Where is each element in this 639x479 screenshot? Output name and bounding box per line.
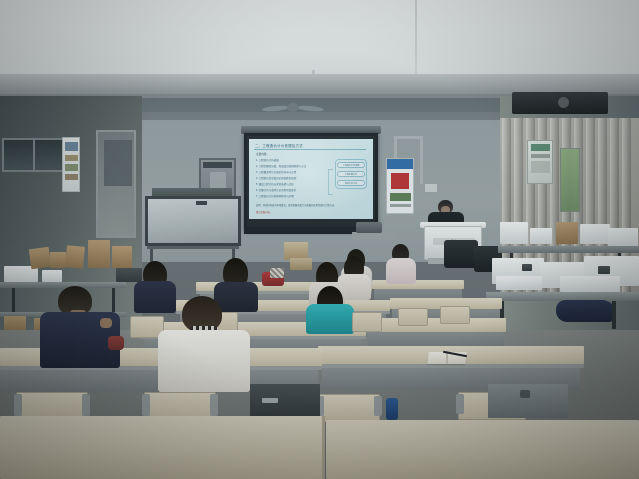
desk-foreground-right (326, 420, 639, 479)
cardboard-box (29, 247, 52, 270)
cabinet-label (262, 398, 278, 403)
fan-blade (297, 105, 324, 112)
left-bench (0, 282, 126, 288)
poster-left-wall (62, 137, 80, 192)
ceiling-seam (415, 0, 417, 78)
chair-arm (142, 394, 150, 416)
chair-arm (456, 394, 464, 414)
scale-model (500, 222, 528, 244)
poster-back-wall-right (386, 158, 414, 214)
left-wall-door[interactable] (96, 130, 136, 238)
sign-right-wall (527, 140, 553, 184)
scale-model (608, 228, 638, 246)
air-conditioner-unit (512, 92, 608, 114)
fan-mid (262, 102, 324, 116)
ceiling (0, 0, 639, 78)
chair-arm (82, 394, 90, 416)
hand (100, 318, 112, 328)
right-wall-window (560, 148, 580, 212)
chair[interactable] (398, 308, 428, 326)
torso (386, 258, 416, 284)
cardboard-box (556, 222, 578, 244)
blue-bottle (386, 398, 398, 420)
classroom-photo: 二、工程造价计价依据及方式 主要内容： 1. 工程造价计价依据 2. 工程定额的… (0, 0, 639, 479)
cardboard-box (65, 245, 85, 268)
desk-row3-right (366, 318, 506, 332)
scale-model (530, 228, 552, 244)
equipment-box (356, 222, 382, 233)
torso (158, 330, 250, 392)
chair-arm (14, 394, 22, 416)
desk-seam (322, 416, 325, 479)
left-dark-box (116, 268, 142, 282)
scale-model (580, 224, 610, 244)
locker-handle[interactable] (520, 390, 530, 398)
bench-leg (612, 301, 616, 329)
bench-leg (12, 288, 15, 314)
desk-foreground-left (0, 416, 324, 479)
whiteboard (145, 196, 241, 246)
wall-conduit-vertical (420, 136, 423, 184)
chair-foreground[interactable] (318, 394, 380, 422)
chair[interactable] (352, 312, 382, 332)
scale-model-flat (560, 276, 620, 292)
chair-arm (374, 396, 382, 416)
wall-conduit-horizontal (396, 136, 422, 139)
chair[interactable] (440, 306, 470, 324)
bag-pattern (270, 268, 284, 278)
held-object (108, 336, 124, 350)
left-wall-window (2, 138, 64, 172)
bench-leg (112, 288, 115, 312)
torso (306, 304, 354, 334)
fan-hub (287, 103, 299, 112)
fan-blade (262, 105, 289, 112)
whiteboard-tray (147, 246, 239, 249)
navy-cloth (556, 300, 616, 322)
cardboard-box (88, 240, 110, 268)
cardboard-box (50, 252, 66, 268)
left-model-piece (42, 270, 62, 282)
chair-arm (210, 394, 218, 416)
equipment-table (352, 232, 396, 240)
right-bench-upper (498, 246, 639, 253)
whiteboard-marker-holder (196, 201, 207, 205)
scale-model-flat (496, 276, 542, 290)
model-detail (522, 264, 532, 271)
screen-glow (249, 139, 373, 219)
front-chair[interactable] (444, 240, 478, 268)
cardboard-box-front (290, 258, 312, 270)
torso (134, 281, 176, 313)
cardboard-box (112, 246, 132, 268)
back-cabinet (250, 384, 320, 418)
wall-outlet[interactable] (424, 183, 438, 193)
model-detail (598, 266, 610, 274)
